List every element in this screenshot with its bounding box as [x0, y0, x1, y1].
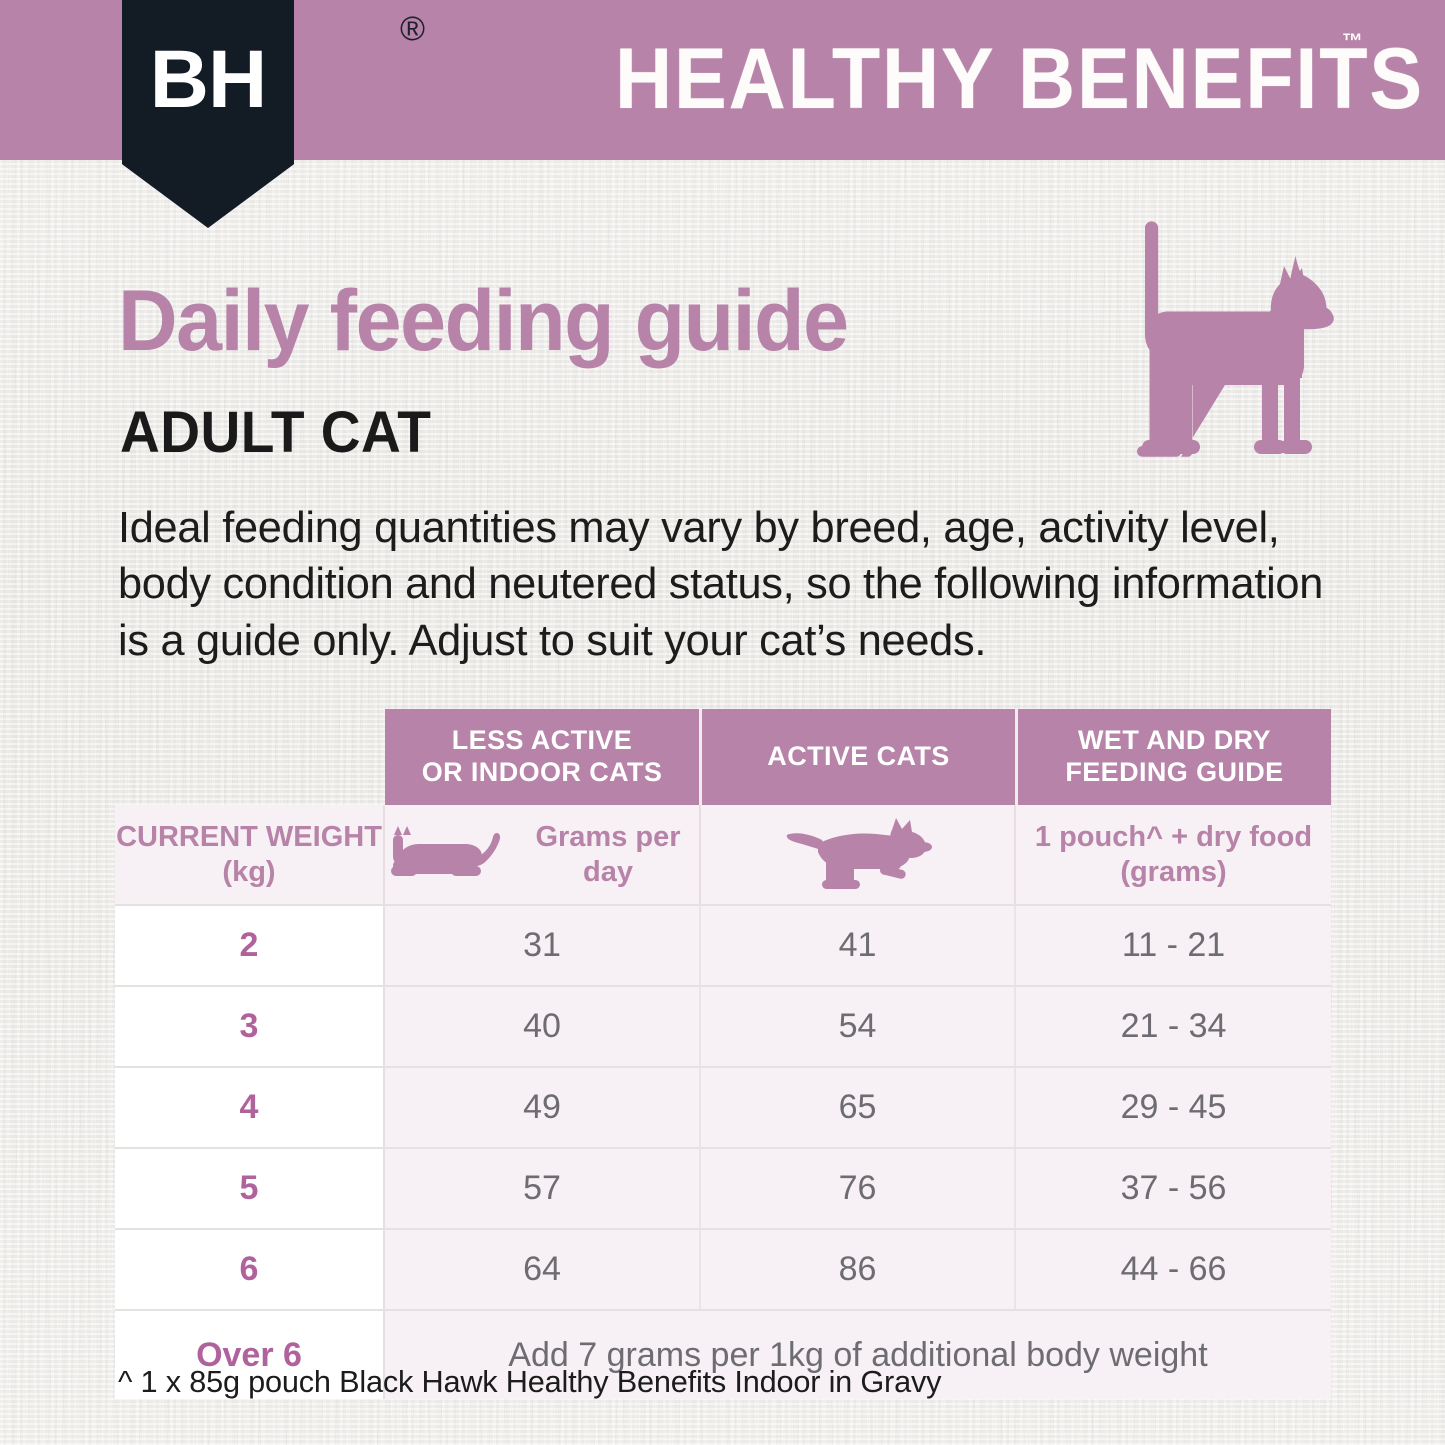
table-group-header-active-cats: ACTIVE CATS — [702, 709, 1018, 805]
cell-wet-dry: 29 - 45 — [1016, 1068, 1331, 1147]
cell-current-weight: 3 — [115, 987, 385, 1066]
intro-paragraph: Ideal feeding quantities may vary by bre… — [118, 500, 1330, 669]
standing-cat-silhouette-icon — [1112, 206, 1372, 476]
cell-active: 54 — [701, 987, 1016, 1066]
cell-active: 76 — [701, 1149, 1016, 1228]
group-header-line1: LESS ACTIVE — [422, 725, 663, 757]
running-cat-silhouette-icon — [784, 818, 932, 892]
cell-less-active: 40 — [385, 987, 701, 1066]
sub-header-current-weight: CURRENT WEIGHT (kg) — [115, 805, 385, 904]
group-header-line1: ACTIVE CATS — [767, 741, 949, 773]
brand-product-line-title: HEALTHY BENEFITS — [615, 22, 1314, 137]
cell-active: 86 — [701, 1230, 1016, 1309]
table-group-header-wet-dry: WET AND DRY FEEDING GUIDE — [1018, 709, 1331, 805]
brand-logo-initials: BH — [122, 0, 294, 160]
table-group-header-less-active: LESS ACTIVE OR INDOOR CATS — [385, 709, 702, 805]
cell-active: 41 — [701, 906, 1016, 985]
table-row: 6 64 86 44 - 66 — [115, 1228, 1331, 1309]
group-header-line2: OR INDOOR CATS — [422, 757, 663, 789]
sub-header-wet-dry-amount: 1 pouch^ + dry food (grams) — [1016, 805, 1331, 904]
lying-cat-silhouette-icon — [385, 826, 503, 884]
group-header-line1: WET AND DRY — [1065, 725, 1283, 757]
cell-less-active: 57 — [385, 1149, 701, 1228]
table-row: 3 40 54 21 - 34 — [115, 985, 1331, 1066]
cell-current-weight: 4 — [115, 1068, 385, 1147]
cell-less-active: 31 — [385, 906, 701, 985]
table-row: 2 31 41 11 - 21 — [115, 904, 1331, 985]
table-group-header-row: LESS ACTIVE OR INDOOR CATS ACTIVE CATS W… — [385, 709, 1331, 805]
sub-header-line1: Grams — [535, 821, 627, 853]
sub-header-line1: CURRENT — [116, 821, 258, 853]
cell-active: 65 — [701, 1068, 1016, 1147]
group-header-line2: FEEDING GUIDE — [1065, 757, 1283, 789]
sub-header-active-cats-icon — [701, 805, 1016, 904]
cell-wet-dry: 44 - 66 — [1016, 1230, 1331, 1309]
table-row: 5 57 76 37 - 56 — [115, 1147, 1331, 1228]
sub-header-line1: 1 pouch^ + — [1035, 821, 1188, 853]
cell-current-weight: 2 — [115, 906, 385, 985]
page-title: Daily feeding guide — [118, 278, 848, 364]
cell-wet-dry: 21 - 34 — [1016, 987, 1331, 1066]
cell-wet-dry: 37 - 56 — [1016, 1149, 1331, 1228]
sub-header-grams-per-day: Grams per day — [385, 805, 701, 904]
cell-less-active: 64 — [385, 1230, 701, 1309]
cell-wet-dry: 11 - 21 — [1016, 906, 1331, 985]
page-subtitle: ADULT CAT — [120, 404, 431, 462]
cell-current-weight: 6 — [115, 1230, 385, 1309]
trademark-icon: ™ — [1342, 30, 1363, 54]
feeding-guide-table: LESS ACTIVE OR INDOOR CATS ACTIVE CATS W… — [115, 709, 1331, 1399]
footnote: ^ 1 x 85g pouch Black Hawk Healthy Benef… — [118, 1364, 941, 1400]
table-row: 4 49 65 29 - 45 — [115, 1066, 1331, 1147]
table-sub-header-row: CURRENT WEIGHT (kg) — [115, 805, 1331, 904]
cell-less-active: 49 — [385, 1068, 701, 1147]
registered-trademark-icon: ® — [400, 12, 425, 46]
cell-current-weight: 5 — [115, 1149, 385, 1228]
